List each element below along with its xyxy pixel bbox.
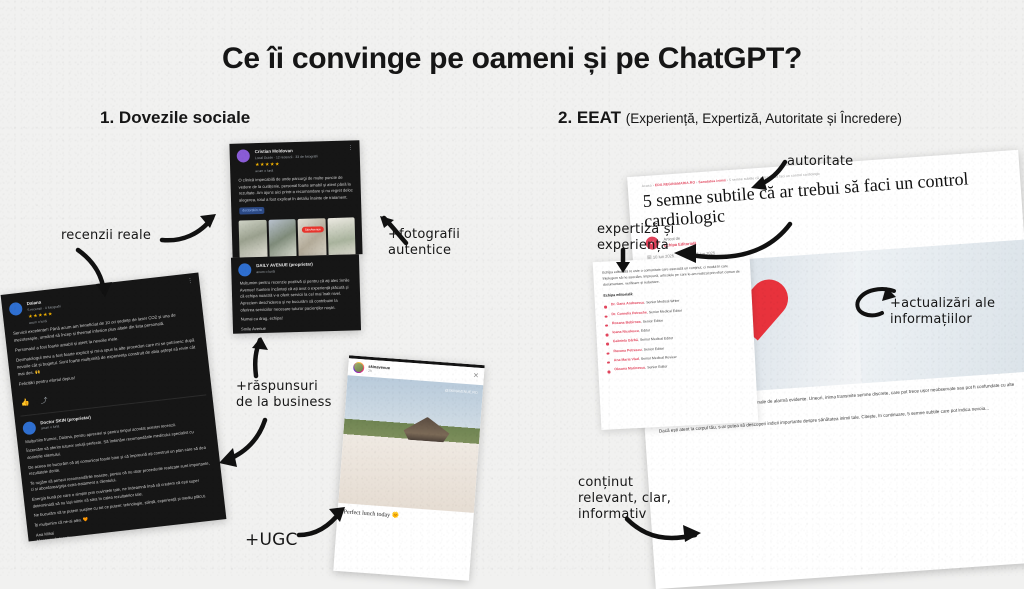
avatar bbox=[237, 149, 250, 162]
page-title: Ce îi convinge pe oameni și pe ChatGPT? bbox=[0, 42, 1024, 76]
annotation-updates: +actualizări ale informațiilor bbox=[890, 296, 995, 328]
annotation-expertise: expertiză și experiența bbox=[597, 222, 674, 254]
review-text-block: O clinică impecabilă de unde parcurgi de… bbox=[230, 172, 361, 219]
section-1-number: 1. bbox=[100, 108, 114, 127]
review-photo-strip: SkinAvenue bbox=[232, 215, 363, 258]
instagram-story-card: skinavenue 2h ✕ @SKINAVENUE.RO Perfect l… bbox=[333, 355, 484, 580]
annotation-reviews: recenzii reale bbox=[61, 228, 151, 244]
reply-body: Mulțumim frumos, Daiana, pentru aprecier… bbox=[17, 415, 227, 541]
annotation-ugc: +UGC bbox=[245, 530, 298, 551]
arrow-replies-down bbox=[213, 418, 269, 470]
review-photo[interactable] bbox=[327, 217, 356, 256]
avatar bbox=[238, 263, 251, 276]
annotation-photos: +fotografii autentice bbox=[388, 227, 460, 259]
story-photo: @SKINAVENUE.RO bbox=[338, 375, 483, 513]
arrow-replies-up bbox=[242, 336, 272, 378]
review-link[interactable]: doctorskin.ro bbox=[239, 206, 265, 214]
review-photo[interactable]: SkinAvenue bbox=[298, 218, 327, 257]
business-reply-card-top: DAILY AVENUE (proprietar) acum o lună Mu… bbox=[231, 254, 361, 334]
section-heading-1: 1. Dovezile sociale bbox=[100, 108, 250, 128]
reply-timestamp: acum o lună bbox=[256, 268, 313, 275]
overflow-menu-icon[interactable]: ⋮ bbox=[187, 279, 193, 284]
overflow-menu-icon[interactable]: ⋮ bbox=[348, 146, 354, 150]
section-2-label: EEAT bbox=[577, 108, 621, 127]
story-avatar[interactable] bbox=[353, 362, 365, 374]
editorial-team-box: Echipa editorială ro este o comunitate c… bbox=[593, 254, 759, 430]
section-2-number: 2. bbox=[558, 108, 572, 127]
like-icon[interactable]: 👍 bbox=[21, 398, 31, 407]
reply-body: Mulțumim pentru recenzie pozitivă și pen… bbox=[232, 275, 361, 334]
section-1-label: Dovezile sociale bbox=[119, 108, 250, 127]
annotation-content: conținut relevant, clar, informativ bbox=[578, 475, 671, 523]
avatar bbox=[22, 421, 36, 435]
reply-team: Smile Avenue bbox=[241, 323, 353, 333]
google-review-card-large: ⋮ Daiana 5 recenzii · 4 fotografii ★★★★★… bbox=[1, 273, 227, 542]
review-text: O clinică impecabilă de unde parcurgi de… bbox=[238, 174, 353, 204]
arrow-reviews-right bbox=[160, 212, 220, 248]
close-icon[interactable]: ✕ bbox=[473, 372, 479, 379]
gazebo-shape bbox=[403, 415, 451, 442]
editorial-intro: Echipa editorială ro este o comunitate c… bbox=[602, 262, 742, 288]
annotation-authority: autoritate bbox=[787, 154, 853, 170]
review-photo[interactable] bbox=[239, 220, 268, 258]
watermark: @SKINAVENUE.RO bbox=[445, 388, 478, 394]
reply-sign: Numai cu drag, echipa! bbox=[241, 314, 353, 324]
avatar bbox=[9, 302, 23, 316]
review-header: Cristian Moldovan Local Guide · 12 recen… bbox=[229, 140, 360, 176]
reply-text: Mulțumim pentru recenzie pozitivă și pen… bbox=[240, 277, 353, 313]
section-heading-2: 2. EEAT (Experiență, Expertiză, Autorita… bbox=[558, 108, 902, 128]
annotation-replies: +răspunsuri de la business bbox=[236, 379, 332, 411]
review-photo[interactable] bbox=[268, 219, 297, 258]
section-2-paren: (Experiență, Expertiză, Autoritate și În… bbox=[626, 111, 902, 126]
review-timestamp: acum o lună bbox=[255, 167, 318, 173]
share-icon[interactable]: ⤴ bbox=[40, 395, 48, 406]
review-author-meta: Local Guide · 12 recenzii · 33 de fotogr… bbox=[255, 154, 318, 161]
google-review-card-top: ⋮ Cristian Moldovan Local Guide · 12 rec… bbox=[229, 140, 362, 258]
breadcrumb-item-home[interactable]: Acasa bbox=[642, 183, 652, 188]
